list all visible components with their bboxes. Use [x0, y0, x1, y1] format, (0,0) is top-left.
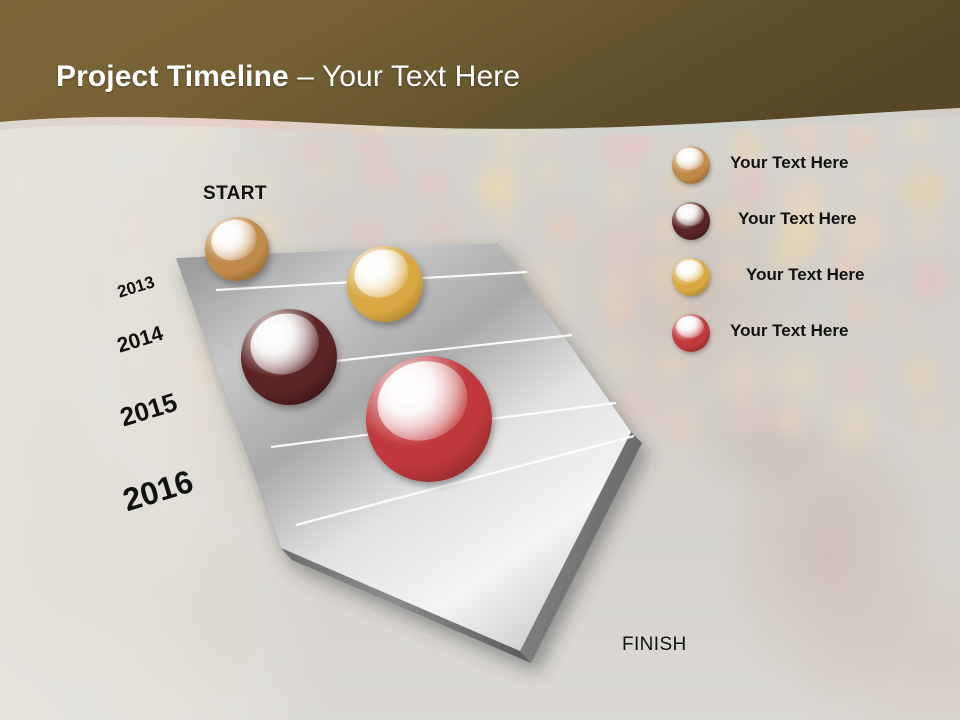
marker-2016[interactable]: [366, 356, 492, 482]
legend-bullet-icon: [672, 258, 710, 296]
marker-2014[interactable]: [347, 246, 423, 322]
legend-item[interactable]: Your Text Here: [672, 314, 952, 370]
start-label: START: [203, 183, 267, 205]
slide-title: Project Timeline – Your Text Here: [56, 60, 520, 94]
legend-bullet-icon: [672, 314, 710, 352]
finish-label: FINISH: [622, 634, 687, 656]
header-band: Project Timeline – Your Text Here: [0, 0, 960, 135]
marker-2013[interactable]: [205, 217, 269, 281]
legend: Your Text HereYour Text HereYour Text He…: [672, 146, 952, 370]
legend-item[interactable]: Your Text Here: [672, 146, 952, 202]
slide-title-sub: – Your Text Here: [297, 60, 520, 93]
marker-2015[interactable]: [241, 309, 337, 405]
slide-title-main: Project Timeline: [56, 60, 289, 93]
slide: Project Timeline – Your Text Here: [0, 0, 960, 720]
legend-item-label: Your Text Here: [746, 265, 864, 285]
legend-item[interactable]: Your Text Here: [672, 258, 952, 314]
legend-item-label: Your Text Here: [730, 153, 848, 173]
legend-item-label: Your Text Here: [738, 209, 856, 229]
legend-bullet-icon: [672, 202, 710, 240]
legend-item-label: Your Text Here: [730, 321, 848, 341]
legend-bullet-icon: [672, 146, 710, 184]
legend-item[interactable]: Your Text Here: [672, 202, 952, 258]
